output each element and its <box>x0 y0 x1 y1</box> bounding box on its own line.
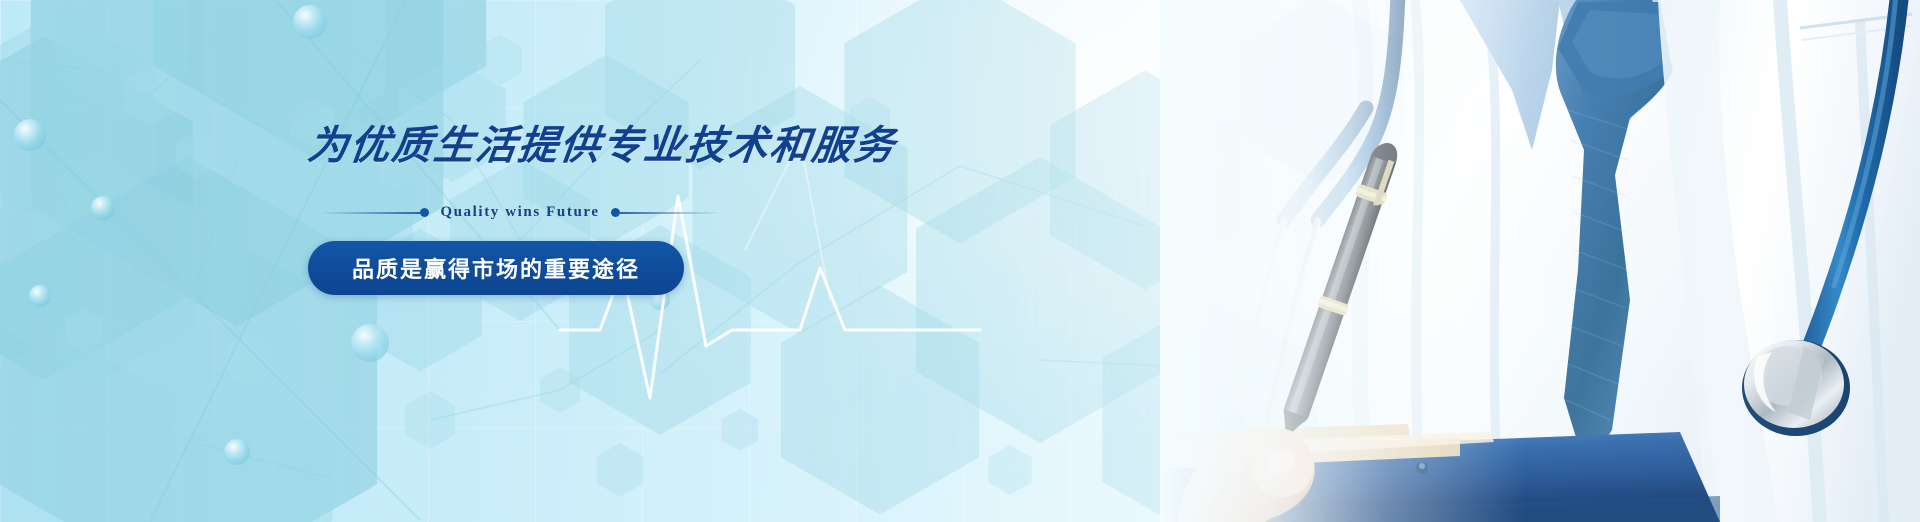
doctor-photo <box>1160 0 1920 522</box>
subtitle-english: Quality wins Future <box>429 204 610 221</box>
subtitle-dot-left-icon <box>420 208 429 217</box>
banner-content: 为优质生活提供专业技术和服务 Quality wins Future 品质是赢得… <box>308 126 928 295</box>
subtitle-row: Quality wins Future <box>320 204 720 221</box>
subtitle-rule-right <box>620 212 720 214</box>
medical-hero-banner: 为优质生活提供专业技术和服务 Quality wins Future 品质是赢得… <box>0 0 1920 522</box>
subtitle-rule-left <box>320 212 420 214</box>
subtitle-dot-right-icon <box>611 208 620 217</box>
page-title: 为优质生活提供专业技术和服务 <box>306 126 931 166</box>
slogan-button[interactable]: 品质是赢得市场的重要途径 <box>308 241 684 295</box>
